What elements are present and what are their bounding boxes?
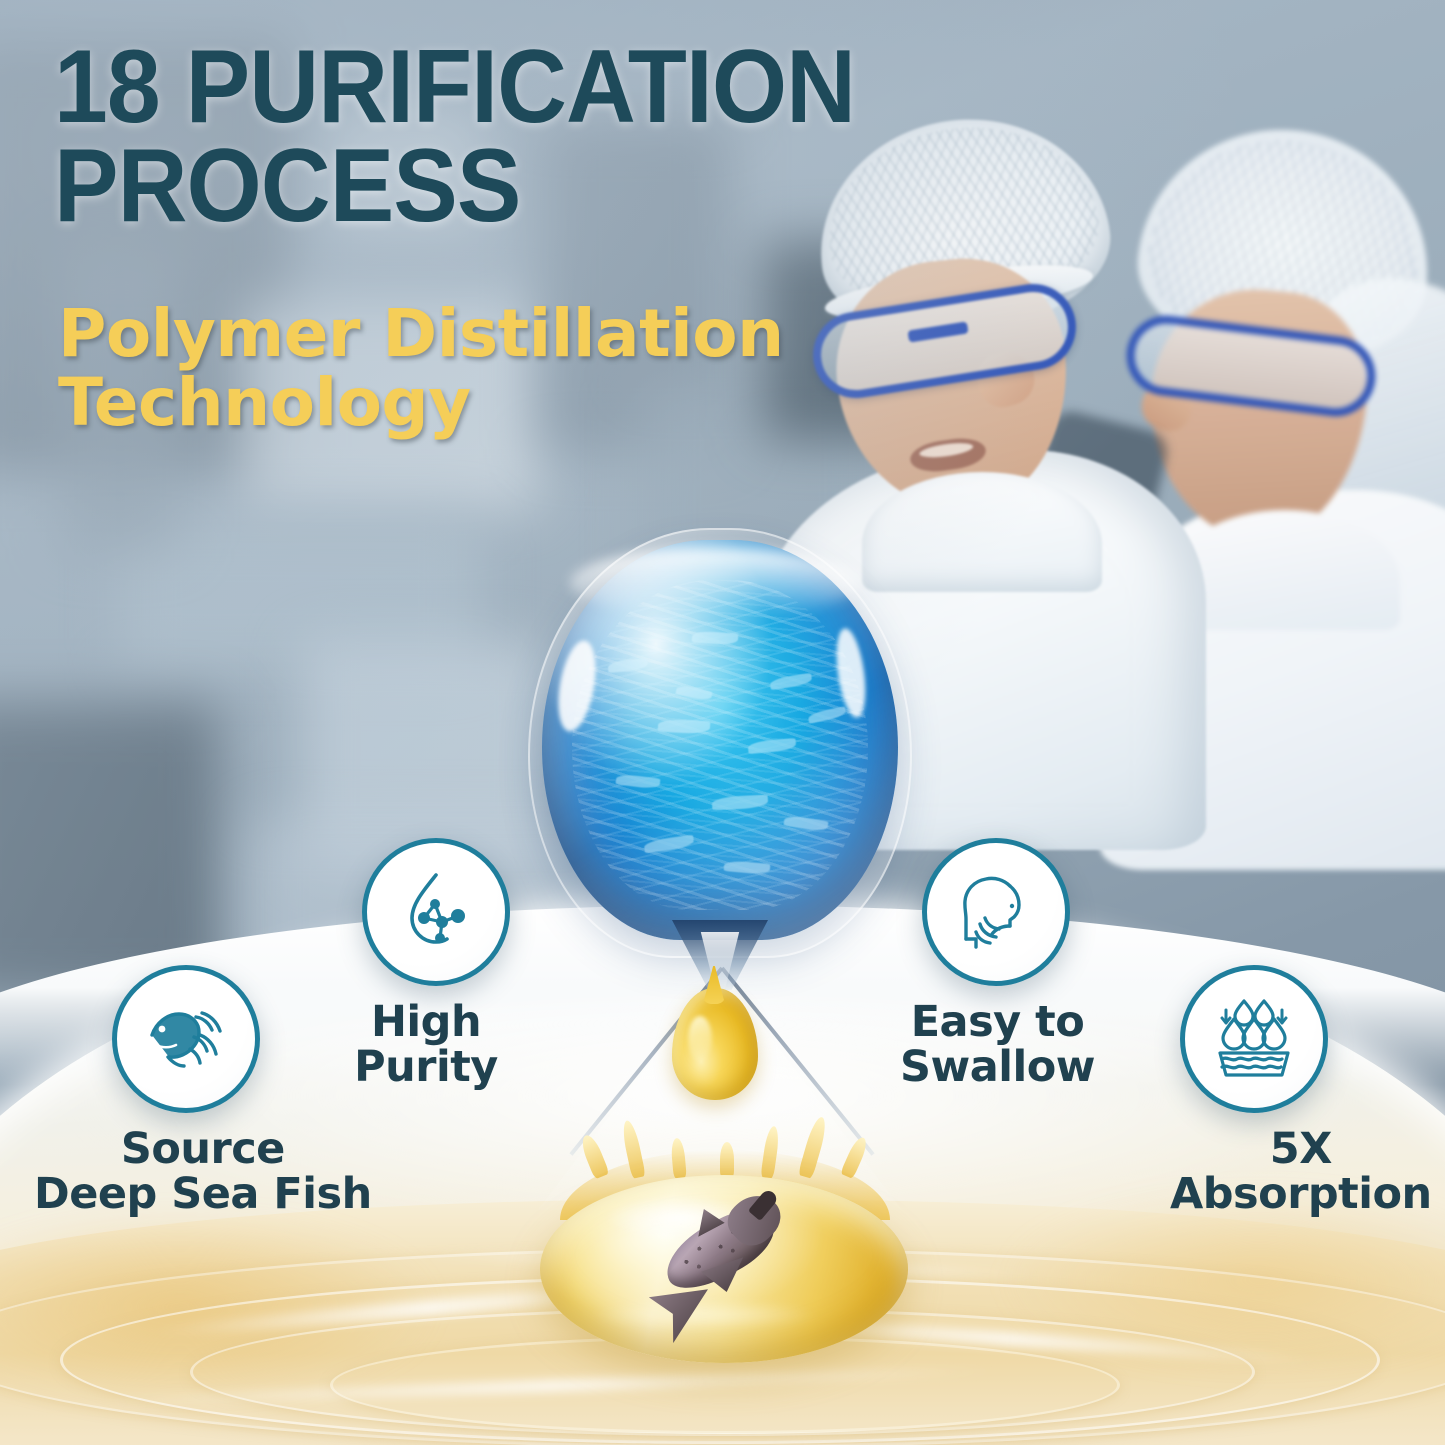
page-subtitle: Polymer Distillation Technology (58, 300, 938, 437)
fish-icon (138, 991, 234, 1087)
feature-high-purity: High Purity (362, 838, 510, 1090)
feature-label: High Purity (342, 1000, 510, 1090)
hourglass-graphic (520, 520, 920, 1040)
feature-5x-absorption: 5X Absorption (1180, 965, 1432, 1217)
feature-label: 5X Absorption (1170, 1127, 1432, 1217)
feature-badge (112, 965, 260, 1113)
feature-badge (1180, 965, 1328, 1113)
feature-label: Easy to Swallow (900, 1000, 1095, 1090)
feature-label-line-1: Easy to (911, 997, 1085, 1047)
head-throat-swallow-icon (950, 866, 1042, 958)
product-infographic: 18 PURIFICATION PROCESS Polymer Distilla… (0, 0, 1445, 1445)
feature-source-deep-sea-fish: Source Deep Sea Fish (112, 965, 372, 1217)
feature-label-line-1: 5X (1270, 1124, 1332, 1174)
feature-badge (922, 838, 1070, 986)
glass-top-sheen (570, 548, 860, 618)
feature-label-line-2: Deep Sea Fish (34, 1172, 372, 1217)
feature-label-line-2: Absorption (1170, 1172, 1432, 1217)
droplets-absorption-icon (1206, 991, 1302, 1087)
subheadline-line-2: Technology (58, 369, 938, 438)
feature-easy-to-swallow: Easy to Swallow (922, 838, 1095, 1090)
feature-label: Source Deep Sea Fish (34, 1127, 372, 1217)
feature-badge (362, 838, 510, 986)
fish-school-texture (572, 580, 868, 910)
headline-line-2: PROCESS (54, 137, 1049, 236)
feature-label-line-1: Source (121, 1124, 285, 1174)
subheadline-line-1: Polymer Distillation (58, 295, 784, 372)
feature-label-line-2: Swallow (900, 1045, 1095, 1090)
water-droplet-molecule-icon (390, 866, 482, 958)
feature-label-line-1: High (371, 997, 481, 1047)
feature-label-line-2: Purity (342, 1045, 510, 1090)
page-title: 18 PURIFICATION PROCESS (54, 38, 1049, 236)
